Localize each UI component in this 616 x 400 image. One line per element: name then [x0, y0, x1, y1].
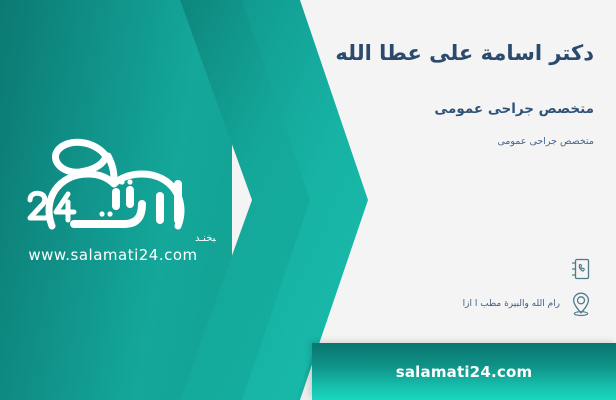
- specialty-primary: متخصص جراحی عمومی: [294, 101, 594, 117]
- location-pin-icon: [568, 289, 594, 319]
- footer-bar[interactable]: salamati24.com: [312, 343, 616, 400]
- logo-url: www.salamati24.com: [28, 246, 197, 264]
- footer-site-label: salamati24.com: [396, 363, 533, 381]
- business-card: بـراحتی یـک لبخنـد www.salamati24.com دك…: [0, 0, 616, 400]
- salamati24-logo: بـراحتی یـک لبخنـد www.salamati24.com: [10, 108, 216, 268]
- contact-row-address[interactable]: رام الله والبيرة مطب ا ازا: [463, 289, 594, 319]
- doctor-name: دكتر اسامة على عطا الله: [294, 40, 594, 67]
- address-text: رام الله والبيرة مطب ا ازا: [463, 300, 560, 309]
- logo-tagline: بـراحتی یـک لبخنـد: [195, 233, 216, 244]
- phone-book-icon: [568, 254, 594, 284]
- profile-content: دكتر اسامة على عطا الله متخصص جراحی عموم…: [294, 0, 594, 400]
- contact-row-phone[interactable]: [560, 254, 594, 284]
- specialty-secondary: متخصص جراحی عمومی: [294, 136, 594, 147]
